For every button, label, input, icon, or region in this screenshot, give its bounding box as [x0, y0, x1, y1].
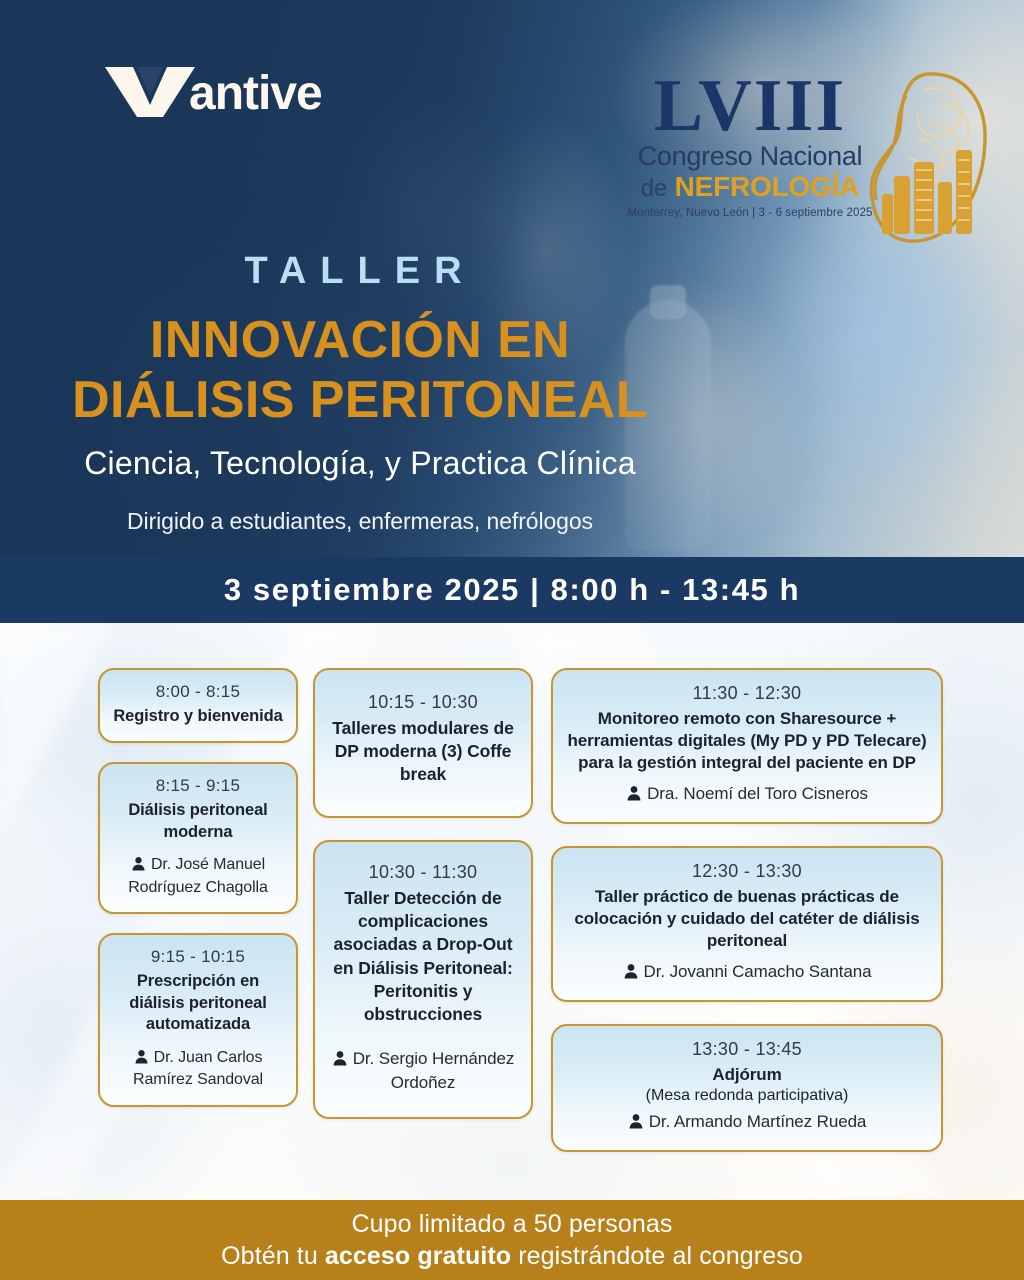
schedule-card[interactable]: 10:15 - 10:30 Talleres modulares de DP m…: [313, 668, 533, 818]
schedule-card[interactable]: 8:15 - 9:15 Diálisis peritoneal moderna …: [98, 762, 298, 914]
kidney-city-icon: [832, 66, 992, 251]
schedule-column-3: 11:30 - 12:30 Monitoreo remoto con Share…: [551, 668, 943, 1152]
card-speaker-name: Dr. Juan Carlos Ramírez Sandoval: [133, 1049, 263, 1088]
card-time: 8:15 - 9:15: [110, 776, 286, 796]
schedule-column-1: 8:00 - 8:15 Registro y bienvenida 8:15 -…: [98, 668, 298, 1152]
person-icon: [628, 1113, 644, 1135]
footer-banner: Cupo limitado a 50 personas Obtén tu acc…: [0, 1200, 1024, 1280]
person-icon: [623, 963, 639, 985]
congress-de-word: de: [641, 175, 667, 202]
page-title: INNOVACIÓN EN DIÁLISIS PERITONEAL: [0, 310, 720, 431]
card-time: 8:00 - 8:15: [110, 682, 286, 702]
schedule-section: 8:00 - 8:15 Registro y bienvenida 8:15 -…: [0, 623, 1024, 1200]
card-time: 12:30 - 13:30: [567, 861, 927, 882]
page-subtitle: Ciencia, Tecnología, y Practica Clínica: [0, 445, 720, 482]
card-speaker-name: Dr. Sergio Hernández Ordoñez: [353, 1049, 514, 1092]
footer-registration-text: Obtén tu acceso gratuito registrándote a…: [221, 1242, 803, 1271]
svg-text:antive: antive: [189, 67, 322, 119]
schedule-card[interactable]: 12:30 - 13:30 Taller práctico de buenas …: [551, 846, 943, 1002]
card-speaker: Dr. Armando Martínez Rueda: [567, 1111, 927, 1135]
card-title: Diálisis peritoneal moderna: [110, 800, 286, 843]
schedule-card[interactable]: 9:15 - 10:15 Prescripción en diálisis pe…: [98, 933, 298, 1106]
title-line-1: INNOVACIÓN EN: [0, 310, 720, 370]
footer-text-highlight: acceso gratuito: [325, 1242, 511, 1270]
person-icon: [131, 856, 146, 877]
congress-logo: LVIII Congreso Nacional de NEFROLOGÍA Mo…: [626, 70, 986, 260]
vantive-logo: antive: [103, 62, 355, 120]
card-title: Prescripción en diálisis peritoneal auto…: [110, 971, 286, 1035]
card-speaker: Dr. Sergio Hernández Ordoñez: [325, 1048, 521, 1094]
title-line-2: DIÁLISIS PERITONEAL: [0, 370, 720, 430]
card-time: 10:30 - 11:30: [325, 862, 521, 883]
hero-banner: antive LVIII Congreso Nacional de NEFROL…: [0, 0, 1024, 557]
card-subtitle: (Mesa redonda participativa): [567, 1086, 927, 1107]
target-audience-text: Dirigido a estudiantes, enfermeras, nefr…: [0, 508, 720, 535]
card-speaker: Dr. Jovanni Camacho Santana: [567, 961, 927, 985]
footer-text-post: registrándote al congreso: [511, 1242, 803, 1270]
person-icon: [134, 1049, 149, 1070]
card-title: Adjórum: [567, 1064, 927, 1086]
event-date-bar: 3 septiembre 2025 | 8:00 h - 13:45 h: [0, 557, 1024, 623]
card-speaker-name: Dr. José Manuel Rodríguez Chagolla: [128, 856, 268, 895]
card-title: Registro y bienvenida: [110, 706, 286, 727]
card-title: Monitoreo remoto con Sharesource + herra…: [567, 708, 927, 774]
event-date-text: 3 septiembre 2025 | 8:00 h - 13:45 h: [224, 572, 800, 608]
card-speaker-name: Dra. Noemí del Toro Cisneros: [647, 784, 868, 803]
footer-capacity-text: Cupo limitado a 50 personas: [352, 1210, 673, 1239]
schedule-card[interactable]: 11:30 - 12:30 Monitoreo remoto con Share…: [551, 668, 943, 824]
card-title: Talleres modulares de DP moderna (3) Cof…: [325, 717, 521, 786]
card-time: 11:30 - 12:30: [567, 683, 927, 704]
card-title: Taller práctico de buenas prácticas de c…: [567, 886, 927, 952]
card-speaker: Dr. José Manuel Rodríguez Chagolla: [110, 855, 286, 898]
card-title: Taller Detección de complicaciones asoci…: [325, 887, 521, 1026]
person-icon: [332, 1050, 348, 1072]
card-speaker-name: Dr. Armando Martínez Rueda: [649, 1112, 867, 1131]
schedule-card[interactable]: 8:00 - 8:15 Registro y bienvenida: [98, 668, 298, 743]
schedule-column-2: 10:15 - 10:30 Talleres modulares de DP m…: [313, 668, 533, 1152]
card-time: 9:15 - 10:15: [110, 947, 286, 967]
schedule-card[interactable]: 13:30 - 13:45 Adjórum (Mesa redonda part…: [551, 1024, 943, 1152]
card-speaker: Dr. Juan Carlos Ramírez Sandoval: [110, 1048, 286, 1091]
schedule-card[interactable]: 10:30 - 11:30 Taller Detección de compli…: [313, 840, 533, 1119]
eyebrow-taller: TALLER: [0, 250, 720, 293]
card-speaker-name: Dr. Jovanni Camacho Santana: [644, 962, 872, 981]
person-icon: [626, 785, 642, 807]
card-time: 13:30 - 13:45: [567, 1039, 927, 1060]
card-speaker: Dra. Noemí del Toro Cisneros: [567, 783, 927, 807]
card-time: 10:15 - 10:30: [325, 692, 521, 713]
footer-text-pre: Obtén tu: [221, 1242, 325, 1270]
